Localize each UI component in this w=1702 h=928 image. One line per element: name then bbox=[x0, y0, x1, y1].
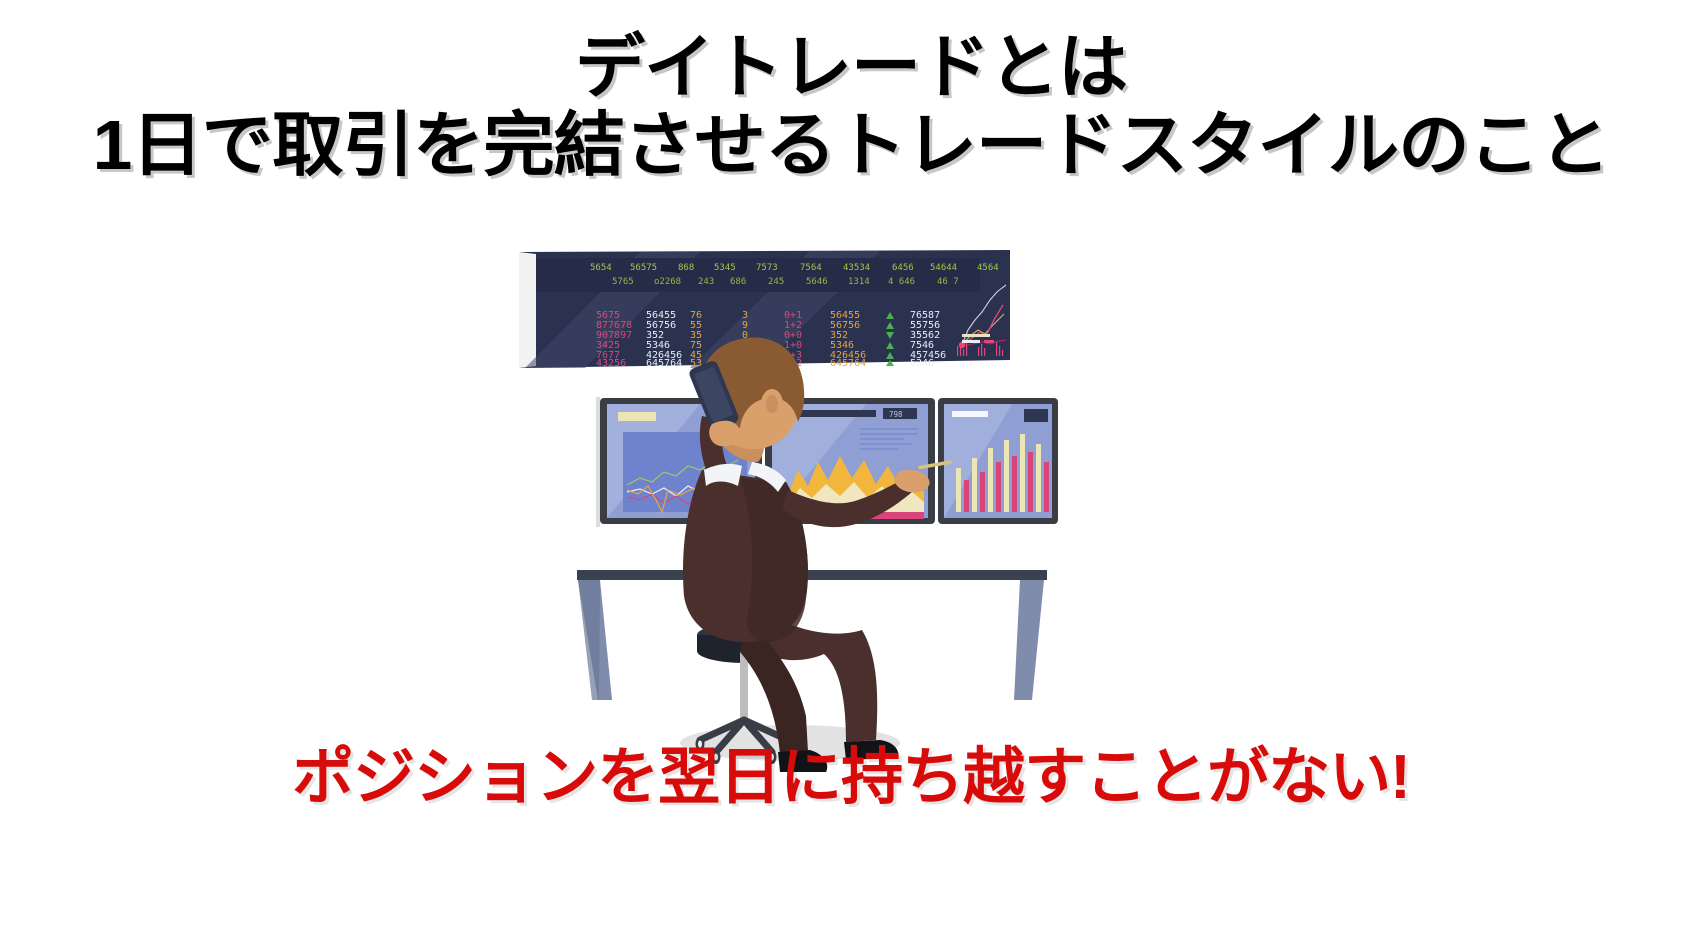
monitor-right bbox=[938, 398, 1058, 524]
ticker-col-qty: 76 55 35 75 45 53 bbox=[690, 310, 702, 369]
svg-text:877678: 877678 bbox=[596, 320, 632, 331]
svg-text:35562: 35562 bbox=[910, 330, 940, 341]
ticker-col-volume: 76587 55756 35562 7546 457456 5346 bbox=[910, 310, 946, 369]
svg-text:43534: 43534 bbox=[843, 263, 870, 273]
svg-text:1314: 1314 bbox=[848, 277, 870, 287]
svg-text:1+2: 1+2 bbox=[784, 320, 802, 331]
stylus bbox=[918, 460, 952, 469]
ticker-col-price: 56455 56756 352 5346 426456 645764 bbox=[646, 310, 682, 369]
svg-text:55: 55 bbox=[690, 320, 702, 331]
svg-text:1: 1 bbox=[742, 340, 748, 351]
svg-text:7546: 7546 bbox=[910, 340, 934, 351]
svg-text:53: 53 bbox=[690, 358, 702, 369]
ticker-header-row-2: 5765 o2268 243 686 245 5646 1314 4 646 4… bbox=[612, 277, 959, 287]
svg-text:0+1: 0+1 bbox=[784, 310, 802, 321]
arrow-up-icon bbox=[886, 352, 894, 359]
ticker-col-direction bbox=[886, 312, 894, 366]
svg-text:645764: 645764 bbox=[646, 358, 682, 369]
board-legend bbox=[962, 334, 994, 343]
svg-text:0: 0 bbox=[742, 358, 748, 369]
svg-text:56756: 56756 bbox=[646, 320, 676, 331]
svg-text:5646: 5646 bbox=[806, 277, 828, 287]
ticker-col-change: 0+1 1+2 0+0 1+0 1+3 1+2 bbox=[784, 310, 802, 369]
trader-arm bbox=[782, 480, 912, 527]
arrow-up-icon bbox=[886, 322, 894, 329]
board-bar-chart bbox=[957, 341, 1003, 356]
ticker-header-row-1: 5654 56575 868 5345 7573 7564 43534 6456… bbox=[590, 263, 999, 273]
trader-neck bbox=[714, 430, 764, 462]
monitor-center: 798 bbox=[765, 398, 935, 524]
arrow-up-icon bbox=[886, 332, 894, 339]
svg-text:56455: 56455 bbox=[646, 310, 676, 321]
svg-text:9: 9 bbox=[742, 320, 748, 331]
svg-text:4564: 4564 bbox=[977, 263, 999, 273]
headline-line-1: デイトレードとは bbox=[0, 28, 1702, 106]
trader-ear bbox=[761, 389, 783, 419]
svg-text:5346: 5346 bbox=[830, 340, 854, 351]
svg-text:1+2: 1+2 bbox=[784, 358, 802, 369]
svg-text:75: 75 bbox=[690, 340, 702, 351]
svg-text:5654: 5654 bbox=[590, 263, 612, 273]
svg-text:o2268: o2268 bbox=[654, 277, 681, 287]
svg-text:76587: 76587 bbox=[910, 310, 940, 321]
svg-text:46 7: 46 7 bbox=[937, 277, 959, 287]
svg-text:1+3: 1+3 bbox=[784, 350, 802, 361]
ticker-col-symbol: 5675 877678 907897 3425 7677 43256 bbox=[596, 310, 632, 369]
monitor-value-chip bbox=[883, 408, 917, 419]
svg-text:3425: 3425 bbox=[596, 340, 620, 351]
trader-hair bbox=[701, 338, 804, 428]
svg-text:56756: 56756 bbox=[830, 320, 860, 331]
monitor-center-label: 798 bbox=[889, 410, 903, 419]
svg-text:868: 868 bbox=[678, 263, 694, 273]
svg-text:426456: 426456 bbox=[830, 350, 866, 361]
svg-text:4 646: 4 646 bbox=[888, 277, 915, 287]
svg-text:352: 352 bbox=[646, 330, 664, 341]
svg-text:5346: 5346 bbox=[646, 340, 670, 351]
svg-text:907897: 907897 bbox=[596, 330, 632, 341]
svg-text:56575: 56575 bbox=[630, 263, 657, 273]
trader-figure bbox=[683, 338, 952, 772]
page-title: デイトレードとは 1日で取引を完結させるトレードスタイルのこと bbox=[0, 28, 1702, 185]
svg-text:55756: 55756 bbox=[910, 320, 940, 331]
trader-head bbox=[705, 347, 800, 449]
bottom-caption: ポジションを翌日に持ち越すことがない! bbox=[0, 726, 1702, 816]
svg-text:0+0: 0+0 bbox=[784, 330, 802, 341]
ticker-col-bid: 56455 56756 352 5346 426456 645764 bbox=[830, 310, 866, 369]
svg-text:0: 0 bbox=[742, 330, 748, 341]
board-line-chart bbox=[959, 285, 1006, 348]
ticker-col-lot: 3 9 0 1 00 0 bbox=[742, 310, 754, 369]
svg-text:7564: 7564 bbox=[800, 263, 822, 273]
trader-leg-back bbox=[748, 610, 877, 742]
svg-text:3: 3 bbox=[742, 310, 748, 321]
center-area-chart bbox=[786, 456, 924, 519]
headline-line-2: 1日で取引を完結させるトレードスタイルのこと bbox=[0, 106, 1702, 184]
arrow-up-icon bbox=[886, 342, 894, 349]
wall-ticker-board: 5654 56575 868 5345 7573 7564 43534 6456… bbox=[519, 250, 1010, 369]
svg-text:1+0: 1+0 bbox=[784, 340, 802, 351]
svg-text:54644: 54644 bbox=[930, 263, 957, 273]
svg-text:243: 243 bbox=[698, 277, 714, 287]
svg-text:43256: 43256 bbox=[596, 358, 626, 369]
right-candlestick-chart bbox=[956, 434, 1049, 512]
svg-text:35: 35 bbox=[690, 330, 702, 341]
slide-root: デイトレードとは 1日で取引を完結させるトレードスタイルのこと 5654 565… bbox=[0, 0, 1702, 928]
monitors-row: 798 bbox=[596, 397, 1058, 527]
svg-text:5345: 5345 bbox=[714, 263, 736, 273]
svg-text:5346: 5346 bbox=[910, 358, 934, 369]
svg-text:76: 76 bbox=[690, 310, 702, 321]
svg-text:7573: 7573 bbox=[756, 263, 778, 273]
svg-text:5765: 5765 bbox=[612, 277, 634, 287]
trader-phone-arm bbox=[700, 416, 728, 470]
svg-text:457456: 457456 bbox=[910, 350, 946, 361]
trader-hand bbox=[894, 470, 930, 492]
arrow-up-icon bbox=[886, 360, 894, 366]
ticker-table: 5675 877678 907897 3425 7677 43256 56455… bbox=[596, 310, 946, 369]
chart-marker bbox=[959, 342, 965, 348]
svg-text:45: 45 bbox=[690, 350, 702, 361]
svg-text:7677: 7677 bbox=[596, 350, 620, 361]
chair-post bbox=[740, 651, 748, 721]
svg-text:352: 352 bbox=[830, 330, 848, 341]
smartphone bbox=[688, 359, 741, 431]
svg-text:00: 00 bbox=[742, 350, 754, 361]
svg-text:5675: 5675 bbox=[596, 310, 620, 321]
svg-text:686: 686 bbox=[730, 277, 746, 287]
svg-text:245: 245 bbox=[768, 277, 784, 287]
trader-collar bbox=[704, 464, 742, 486]
monitor-left bbox=[596, 397, 762, 527]
arrow-up-icon bbox=[886, 312, 894, 319]
trader-torso bbox=[683, 470, 808, 642]
svg-text:645764: 645764 bbox=[830, 358, 866, 369]
desk bbox=[577, 570, 1047, 700]
svg-text:426456: 426456 bbox=[646, 350, 682, 361]
trader-phone-hand bbox=[709, 421, 740, 447]
svg-text:6456: 6456 bbox=[892, 263, 914, 273]
svg-text:56455: 56455 bbox=[830, 310, 860, 321]
